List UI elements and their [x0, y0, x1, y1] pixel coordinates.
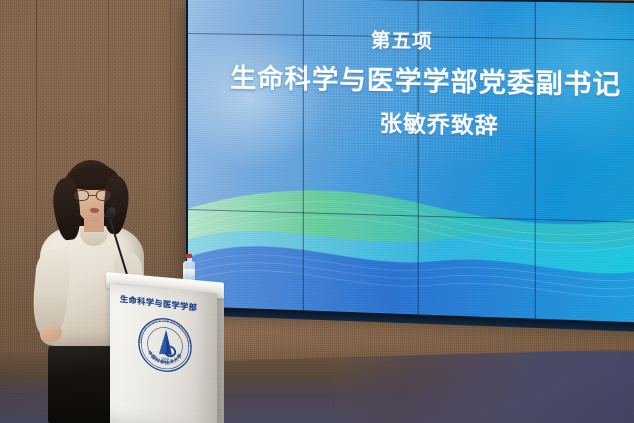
microphone-gooseneck — [109, 219, 129, 279]
wall-panel-seam — [108, 0, 109, 170]
svg-text:1958: 1958 — [161, 357, 169, 362]
photo-scene: 第五项 生命科学与医学学部党委副书记 张敏乔致辞 — [0, 0, 634, 423]
carpet-texture — [334, 351, 634, 423]
screen-surface: 第五项 生命科学与医学学部党委副书记 张敏乔致辞 — [188, 0, 634, 323]
carpet — [334, 351, 634, 423]
led-video-wall: 第五项 生命科学与医学学部党委副书记 张敏乔致辞 — [186, 0, 634, 325]
eyeglasses-icon — [72, 190, 114, 202]
podium: 生命科学与医学学部 UNIVERSITY OF SCIENCE AND TECH… — [106, 272, 224, 423]
university-seal-icon: UNIVERSITY OF SCIENCE AND TECHNOLOGY OF … — [136, 313, 194, 376]
led-pixel-texture — [188, 0, 634, 323]
